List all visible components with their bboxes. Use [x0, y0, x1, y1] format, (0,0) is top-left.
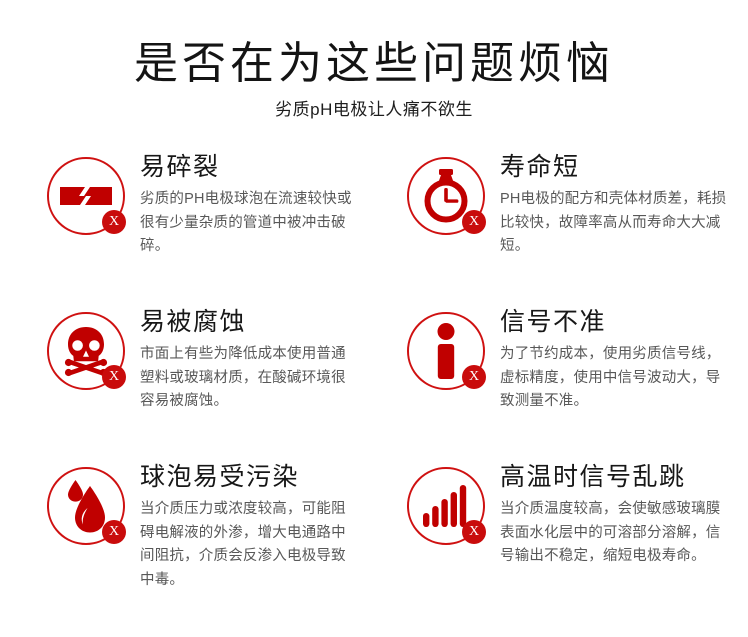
card-description: 当介质压力或浓度较高，可能阻碍电解液的外渗，增大电通路中间阻抗，介质会反渗入电极… — [140, 498, 358, 592]
card-title: 寿命短 — [500, 152, 748, 182]
problem-card-brittle: X 易碎裂 劣质的PH电极球泡在流速较快或很有少量杂质的管道中被冲击破碎。 — [44, 150, 404, 305]
card-title: 易被腐蚀 — [140, 307, 404, 337]
icon-badge: X — [44, 464, 128, 548]
card-title: 球泡易受污染 — [140, 462, 404, 492]
problem-card-short-life: X 寿命短 PH电极的配方和壳体材质差，耗损比较快，故障率高从而寿命大大减短。 — [404, 150, 748, 305]
card-text: 寿命短 PH电极的配方和壳体材质差，耗损比较快，故障率高从而寿命大大减短。 — [500, 150, 748, 258]
card-title: 高温时信号乱跳 — [500, 462, 748, 492]
card-text: 球泡易受污染 当介质压力或浓度较高，可能阻碍电解液的外渗，增大电通路中间阻抗，介… — [140, 460, 404, 592]
problem-card-inaccurate-signal: X 信号不准 为了节约成本，使用劣质信号线，虚标精度，使用中信号波动大，导致测量… — [404, 305, 748, 460]
icon-badge: X — [44, 309, 128, 393]
problem-card-grid: X 易碎裂 劣质的PH电极球泡在流速较快或很有少量杂质的管道中被冲击破碎。 — [0, 150, 748, 615]
card-text: 易碎裂 劣质的PH电极球泡在流速较快或很有少量杂质的管道中被冲击破碎。 — [140, 150, 404, 258]
page-subtitle: 劣质pH电极让人痛不欲生 — [0, 100, 748, 120]
card-title: 信号不准 — [500, 307, 748, 337]
card-description: 市面上有些为降低成本使用普通塑料或玻璃材质，在酸碱环境很容易被腐蚀。 — [140, 343, 358, 413]
card-text: 信号不准 为了节约成本，使用劣质信号线，虚标精度，使用中信号波动大，导致测量不准… — [500, 305, 748, 413]
card-text: 易被腐蚀 市面上有些为降低成本使用普通塑料或玻璃材质，在酸碱环境很容易被腐蚀。 — [140, 305, 404, 413]
card-title: 易碎裂 — [140, 152, 404, 182]
icon-badge: X — [404, 154, 488, 238]
problem-card-corrosion: X 易被腐蚀 市面上有些为降低成本使用普通塑料或玻璃材质，在酸碱环境很容易被腐蚀… — [44, 305, 404, 460]
promo-page: 是否在为这些问题烦恼 劣质pH电极让人痛不欲生 X 易碎裂 劣质的PH电极球泡在… — [0, 0, 748, 637]
card-description: 当介质温度较高，会使敏感玻璃膜表面水化层中的可溶部分溶解，信号输出不稳定，缩短电… — [500, 498, 732, 568]
icon-badge: X — [404, 309, 488, 393]
icon-badge: X — [404, 464, 488, 548]
problem-card-contamination: X 球泡易受污染 当介质压力或浓度较高，可能阻碍电解液的外渗，增大电通路中间阻抗… — [44, 460, 404, 615]
card-text: 高温时信号乱跳 当介质温度较高，会使敏感玻璃膜表面水化层中的可溶部分溶解，信号输… — [500, 460, 748, 568]
problem-card-high-temp-jitter: X 高温时信号乱跳 当介质温度较高，会使敏感玻璃膜表面水化层中的可溶部分溶解，信… — [404, 460, 748, 615]
card-description: 为了节约成本，使用劣质信号线，虚标精度，使用中信号波动大，导致测量不准。 — [500, 343, 732, 413]
page-title: 是否在为这些问题烦恼 — [0, 38, 748, 89]
card-description: PH电极的配方和壳体材质差，耗损比较快，故障率高从而寿命大大减短。 — [500, 188, 732, 258]
card-description: 劣质的PH电极球泡在流速较快或很有少量杂质的管道中被冲击破碎。 — [140, 188, 358, 258]
icon-badge: X — [44, 154, 128, 238]
page-header: 是否在为这些问题烦恼 劣质pH电极让人痛不欲生 — [0, 0, 748, 120]
